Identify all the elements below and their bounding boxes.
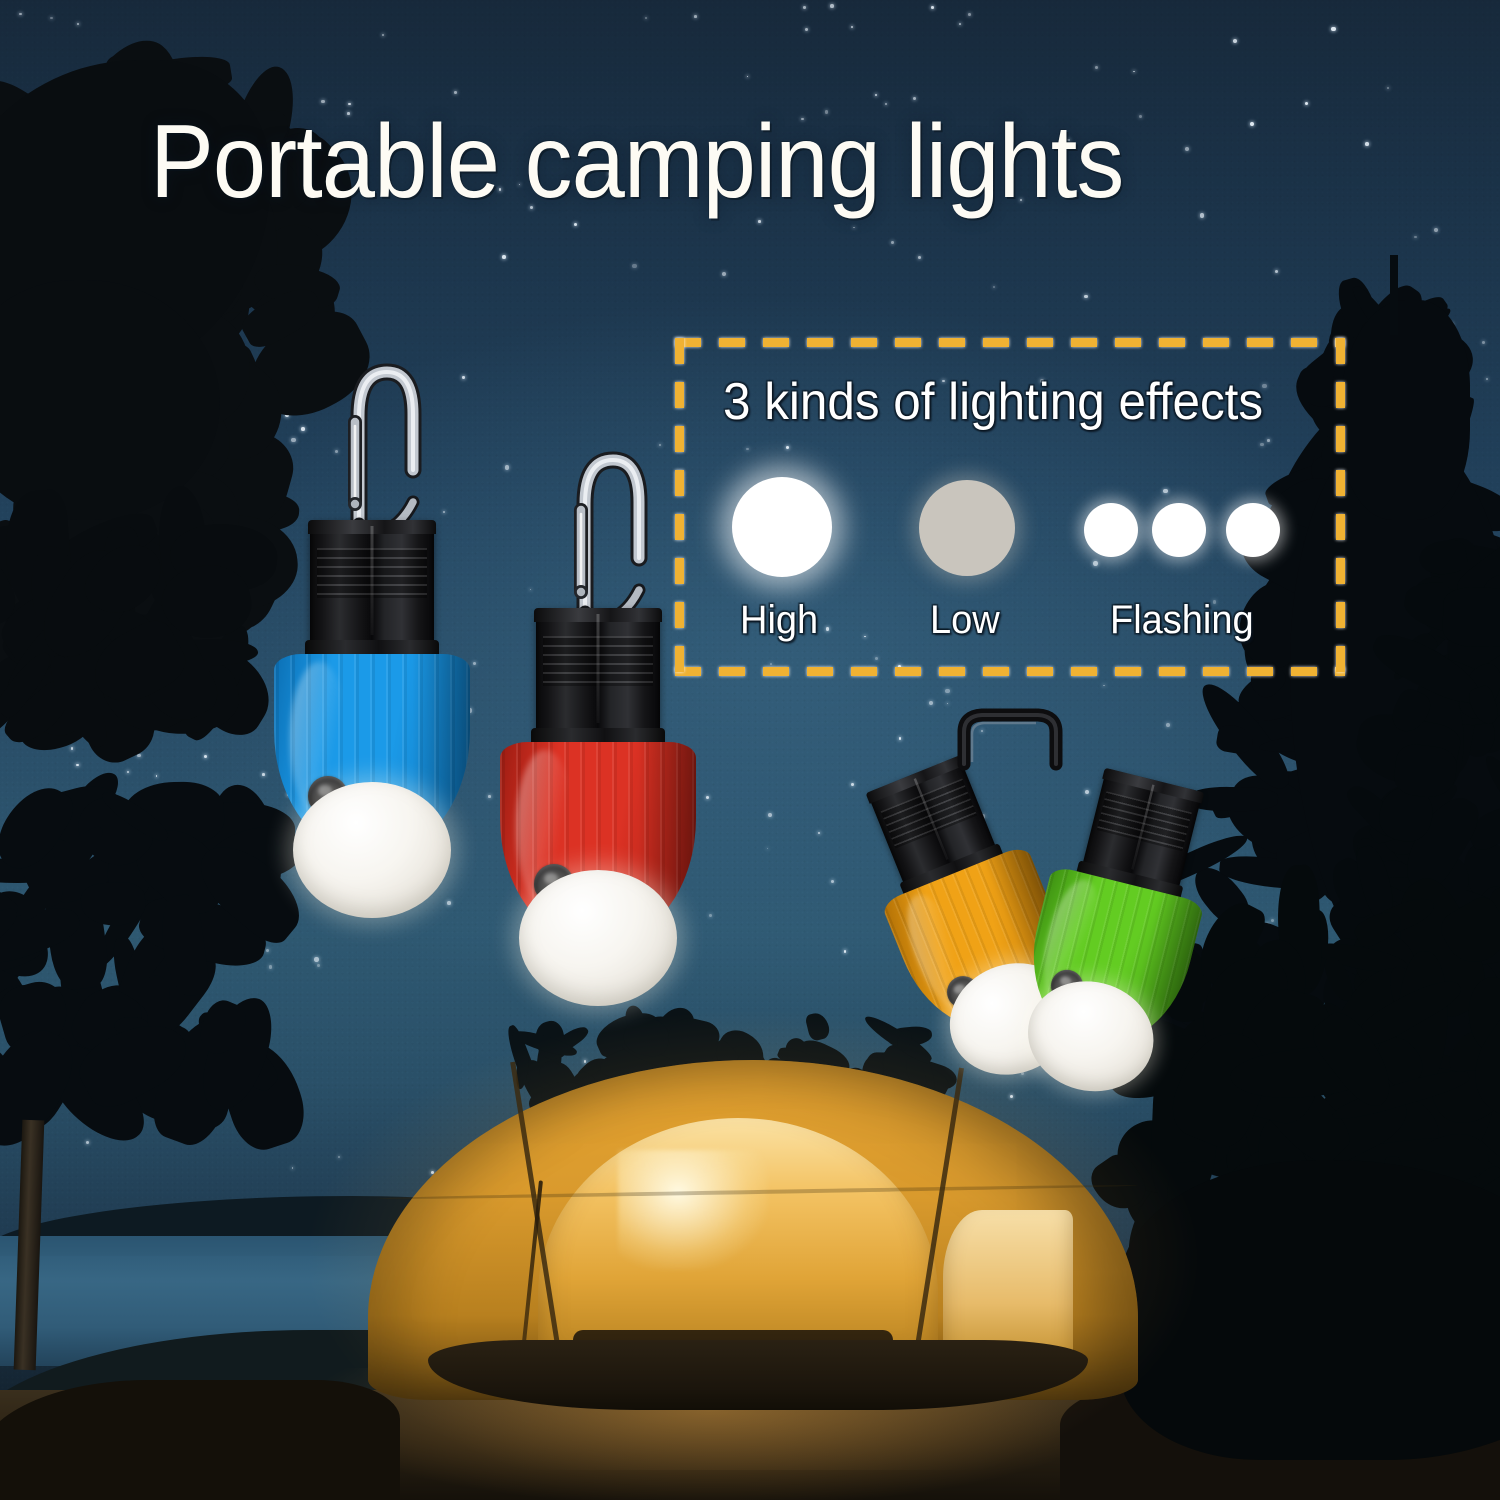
lamp-housing [310, 520, 434, 660]
tent-base-skirt [428, 1340, 1088, 1410]
mode-low-label: Low [930, 598, 1000, 643]
flashing-icon-dot-3 [1226, 503, 1280, 557]
star [803, 6, 806, 9]
star [632, 264, 636, 268]
star [875, 94, 877, 96]
mode-flashing-label: Flashing [1110, 598, 1254, 643]
flashing-icon-dot-2 [1152, 503, 1206, 557]
high-brightness-icon [732, 477, 832, 577]
flashing-icon-dot-1 [1084, 503, 1138, 557]
star [1095, 66, 1098, 69]
star [1414, 236, 1417, 239]
star [851, 26, 853, 28]
mode-high-label: High [740, 598, 818, 643]
star [1305, 102, 1308, 105]
page-title: Portable camping lights [150, 108, 1123, 217]
star [1200, 213, 1204, 217]
star [266, 949, 269, 952]
light-diffuser-dome [519, 870, 677, 1006]
star [913, 97, 916, 100]
star [968, 13, 971, 16]
carabiner-clip [543, 440, 653, 630]
star [851, 783, 854, 786]
star [1084, 295, 1087, 298]
callout-heading: 3 kinds of lighting effects [723, 372, 1263, 432]
foliage-blob [1340, 300, 1470, 520]
conifer-spire [1390, 255, 1398, 335]
housing-seam [371, 526, 374, 635]
star [1166, 723, 1170, 727]
callout-border-bottom [675, 667, 1345, 676]
star [1331, 27, 1336, 32]
star [931, 6, 934, 9]
callout-border-top [675, 338, 1345, 347]
star [127, 771, 129, 773]
low-brightness-icon [919, 480, 1015, 576]
lamp-housing [536, 608, 660, 748]
star [447, 901, 451, 905]
star [1365, 142, 1369, 146]
blue-camping-light [262, 352, 482, 892]
foliage-blob [1442, 587, 1500, 648]
red-camping-light [488, 440, 708, 980]
star [1486, 378, 1488, 380]
callout-border-right [1336, 338, 1345, 676]
star [694, 15, 697, 18]
star [454, 91, 457, 94]
housing-seam [597, 614, 600, 723]
star [830, 4, 834, 8]
tent-interior-light [618, 1150, 768, 1270]
star [77, 23, 79, 25]
star [758, 220, 761, 223]
star [709, 914, 712, 917]
star [269, 965, 272, 968]
star [76, 764, 79, 767]
star [1133, 71, 1135, 73]
shared-carabiner-clip [950, 706, 1070, 776]
product-marketing-image: Portable camping lights 3 kinds of light… [0, 0, 1500, 1500]
star [831, 880, 834, 883]
star [502, 255, 506, 259]
star [959, 23, 961, 25]
star [314, 957, 319, 962]
star [71, 747, 74, 750]
light-diffuser-dome [293, 782, 451, 918]
carabiner-clip [317, 352, 427, 542]
